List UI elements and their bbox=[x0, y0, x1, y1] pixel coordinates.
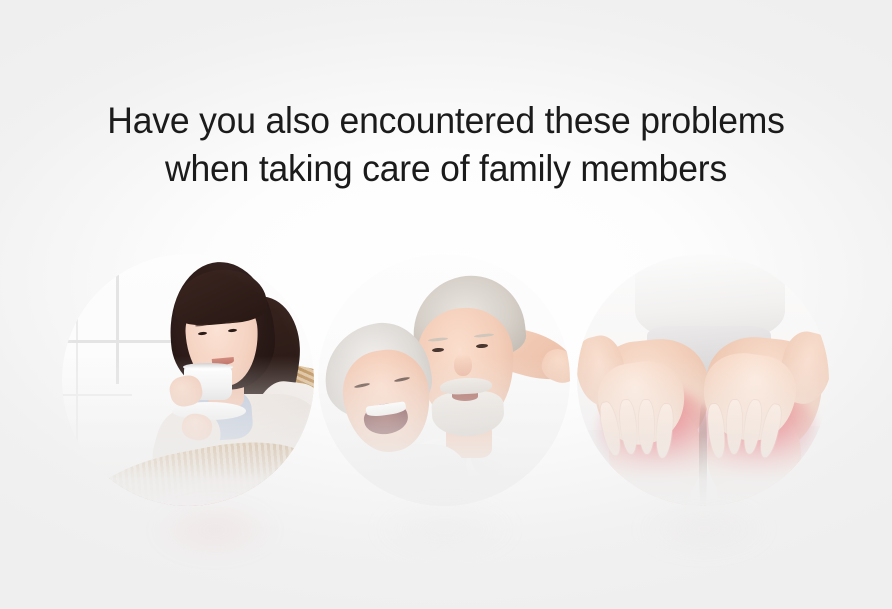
window-transom-lower-icon bbox=[62, 394, 132, 396]
photo-pregnant-woman bbox=[62, 254, 314, 506]
page-title: Have you also encountered these problems… bbox=[18, 97, 874, 193]
photo-row bbox=[0, 248, 892, 508]
photo-3-scene bbox=[577, 254, 829, 506]
cup-rim bbox=[183, 363, 233, 371]
slide-canvas: Have you also encountered these problems… bbox=[0, 0, 892, 609]
window-frame-icon bbox=[76, 254, 78, 454]
photo-3-residual-glow bbox=[634, 500, 774, 558]
photo-1-residual-glow bbox=[150, 500, 280, 560]
shin-left bbox=[621, 480, 691, 506]
man-nose bbox=[454, 354, 472, 376]
photo-elderly-couple bbox=[318, 254, 570, 506]
photo-2-scene bbox=[318, 254, 570, 506]
woman-white-shirt bbox=[318, 444, 468, 506]
finger-left-3 bbox=[639, 400, 655, 454]
headline-line-2: when taking care of family members bbox=[18, 145, 874, 193]
photo-knee-pain bbox=[577, 254, 829, 506]
woman-hair-fringe bbox=[172, 266, 268, 328]
headline-line-1: Have you also encountered these problems bbox=[18, 97, 874, 145]
shin-right bbox=[717, 480, 787, 506]
window-transom-icon bbox=[62, 340, 174, 343]
photo-1-scene bbox=[62, 254, 314, 506]
window-mullion-icon bbox=[116, 254, 119, 384]
